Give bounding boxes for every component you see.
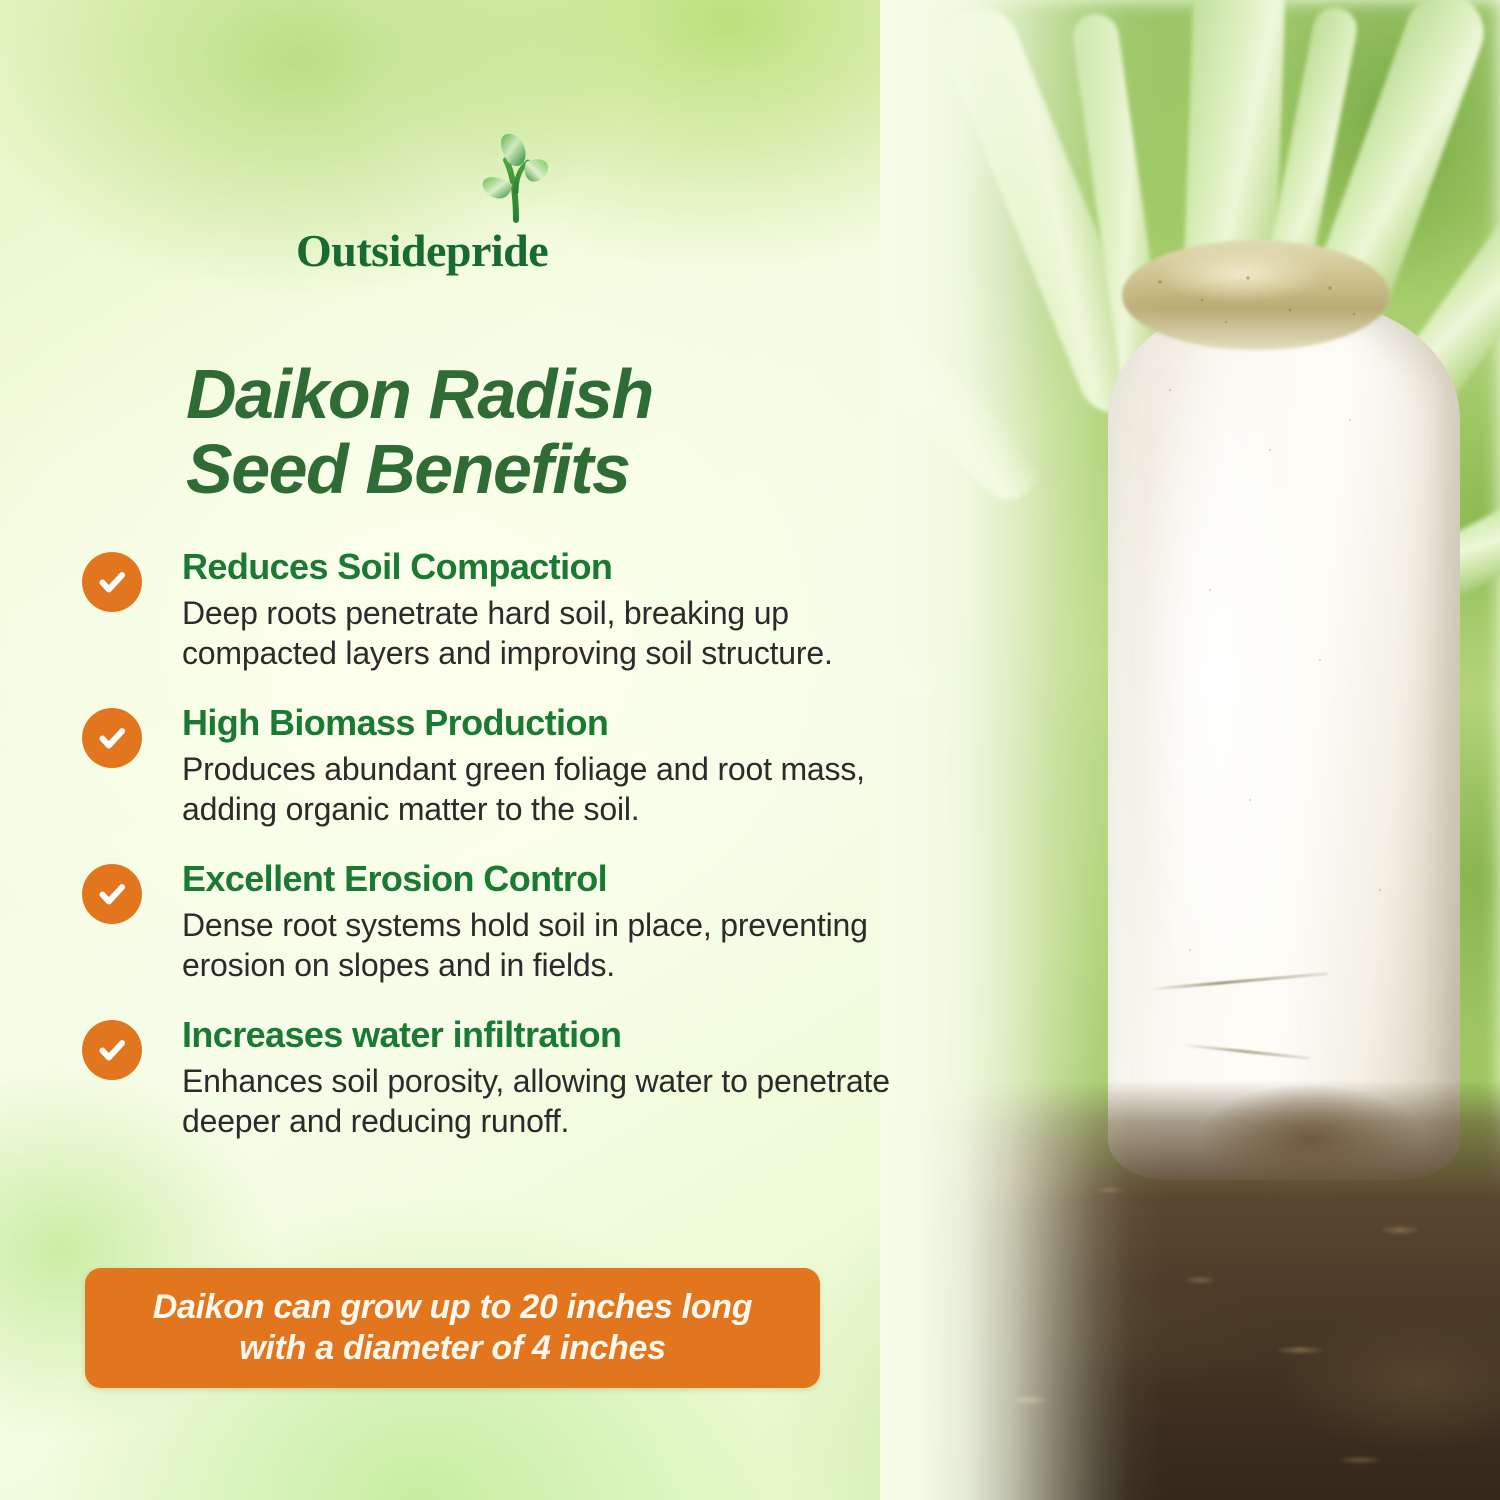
benefit-body: Enhances soil porosity, allowing water t… bbox=[182, 1062, 942, 1141]
page-title-line-1: Daikon Radish bbox=[186, 357, 886, 432]
infographic-poster: Outsidepride Daikon Radish Seed Benefits… bbox=[0, 0, 1500, 1500]
check-circle-icon bbox=[82, 1020, 142, 1080]
seedling-leaf-icon bbox=[454, 128, 574, 228]
page-title: Daikon Radish Seed Benefits bbox=[186, 357, 886, 507]
benefit-body: Produces abundant green foliage and root… bbox=[182, 750, 942, 829]
fact-banner-text: Daikon can grow up to 20 inches long wit… bbox=[135, 1287, 770, 1370]
brand-name: Outsidepride bbox=[296, 224, 616, 277]
benefit-item: Increases water infiltration Enhances so… bbox=[82, 1014, 952, 1146]
check-circle-icon bbox=[82, 708, 142, 768]
check-circle-icon bbox=[82, 552, 142, 612]
benefit-body: Deep roots penetrate hard soil, breaking… bbox=[182, 594, 942, 673]
benefit-heading: High Biomass Production bbox=[182, 702, 952, 744]
benefit-heading: Reduces Soil Compaction bbox=[182, 546, 952, 588]
content-column: Outsidepride Daikon Radish Seed Benefits… bbox=[0, 0, 960, 1500]
benefits-list: Reduces Soil Compaction Deep roots penet… bbox=[82, 546, 952, 1170]
page-title-line-2: Seed Benefits bbox=[186, 432, 886, 507]
benefit-item: Excellent Erosion Control Dense root sys… bbox=[82, 858, 952, 990]
photo-inner bbox=[880, 0, 1500, 1500]
benefit-item: High Biomass Production Produces abundan… bbox=[82, 702, 952, 834]
fact-banner-line-1: Daikon can grow up to 20 inches long bbox=[153, 1287, 752, 1328]
fact-banner: Daikon can grow up to 20 inches long wit… bbox=[85, 1268, 820, 1388]
daikon-radish-photo bbox=[880, 0, 1500, 1500]
benefit-body: Dense root systems hold soil in place, p… bbox=[182, 906, 942, 985]
benefit-heading: Excellent Erosion Control bbox=[182, 858, 952, 900]
brand-logo[interactable]: Outsidepride bbox=[296, 128, 616, 278]
benefit-item: Reduces Soil Compaction Deep roots penet… bbox=[82, 546, 952, 678]
photo-left-fade bbox=[880, 0, 1500, 1500]
fact-banner-line-2: with a diameter of 4 inches bbox=[153, 1328, 752, 1369]
benefit-heading: Increases water infiltration bbox=[182, 1014, 952, 1056]
check-circle-icon bbox=[82, 864, 142, 924]
